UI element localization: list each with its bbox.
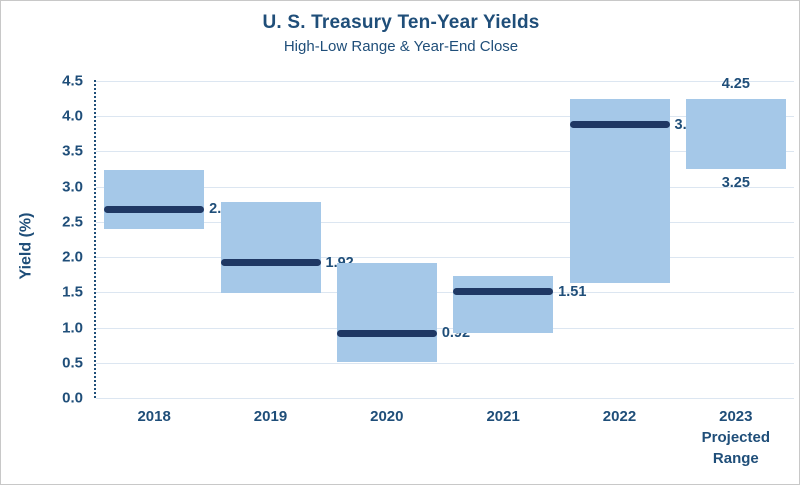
range-bar[interactable] <box>104 170 204 228</box>
x-axis-tick-label-line: 2019 <box>212 406 328 427</box>
x-axis-tick-label-line: 2023 <box>678 406 794 427</box>
x-axis-tick-label: 2018 <box>96 406 212 427</box>
y-axis-tick-labels: 0.00.51.01.52.02.53.03.54.04.5 <box>37 81 83 398</box>
y-axis-tick-label: 3.5 <box>37 143 83 160</box>
close-marker <box>453 288 553 295</box>
x-axis-tick-label: 2020 <box>329 406 445 427</box>
y-axis-tick-label: 0.5 <box>37 354 83 371</box>
y-axis-tick-label: 2.5 <box>37 213 83 230</box>
gridline <box>96 292 794 293</box>
gridline <box>96 398 794 399</box>
low-value-label: 3.25 <box>686 175 786 191</box>
x-axis-tick-label-line: 2018 <box>96 406 212 427</box>
y-axis-tick-label: 3.0 <box>37 178 83 195</box>
range-bar[interactable] <box>337 263 437 362</box>
close-marker <box>570 121 670 128</box>
gridline <box>96 257 794 258</box>
x-axis-tick-labels: 201820192020202120222023ProjectedRange <box>96 406 794 481</box>
title-block: U. S. Treasury Ten-Year Yields High-Low … <box>1 11 800 58</box>
x-axis-tick-label-line: 2020 <box>329 406 445 427</box>
y-axis-tick-label: 0.0 <box>37 390 83 407</box>
y-axis-title-text: Yield (%) <box>17 213 35 280</box>
x-axis-tick-label: 2023ProjectedRange <box>678 406 794 469</box>
chart-figure: U. S. Treasury Ten-Year Yields High-Low … <box>0 0 800 485</box>
x-axis-tick-label: 2019 <box>212 406 328 427</box>
y-axis-tick-label: 2.0 <box>37 249 83 266</box>
close-marker <box>104 206 204 213</box>
x-axis-tick-label: 2021 <box>445 406 561 427</box>
close-marker <box>337 330 437 337</box>
close-value-label: 1.51 <box>558 284 586 300</box>
y-axis-tick-label: 1.0 <box>37 319 83 336</box>
range-bar[interactable] <box>453 276 553 333</box>
close-marker <box>221 259 321 266</box>
x-axis-tick-label-line: Range <box>678 448 794 469</box>
range-bar[interactable] <box>686 99 786 169</box>
x-axis-tick-label-line: 2021 <box>445 406 561 427</box>
high-value-label: 4.25 <box>686 76 786 92</box>
range-bar[interactable] <box>221 202 321 293</box>
gridline <box>96 363 794 364</box>
x-axis-tick-label-line: Projected <box>678 427 794 448</box>
y-axis-tick-label: 1.5 <box>37 284 83 301</box>
x-axis-tick-label: 2022 <box>561 406 677 427</box>
y-axis-tick-label: 4.5 <box>37 73 83 90</box>
x-axis-tick-label-line: 2022 <box>561 406 677 427</box>
y-axis-tick-label: 4.0 <box>37 108 83 125</box>
chart-title: U. S. Treasury Ten-Year Yields <box>1 11 800 35</box>
chart-subtitle: High-Low Range & Year-End Close <box>1 36 800 58</box>
plot-area: 2.681.920.921.513.884.253.25 <box>96 81 794 398</box>
